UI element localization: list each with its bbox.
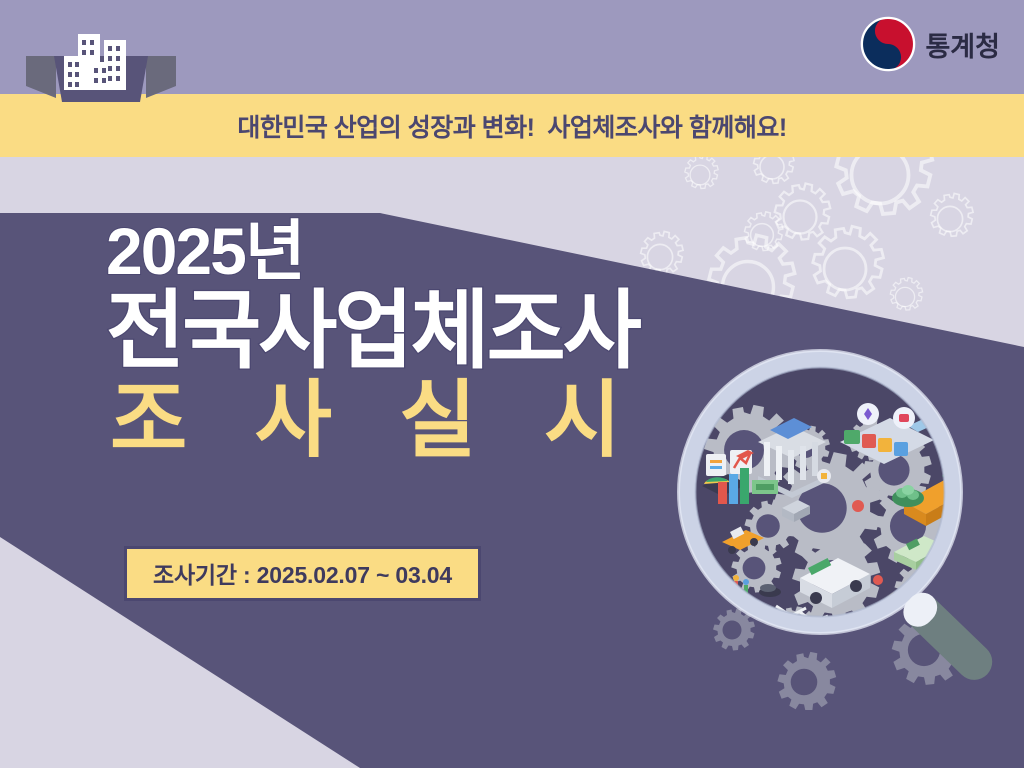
headline-year: 2025년 — [106, 218, 643, 284]
gov-logo: 통계청 — [860, 16, 1000, 72]
survey-period-badge: 조사기간 : 2025.02.07 ~ 03.04 — [124, 546, 481, 601]
construction-machinery-icon — [830, 632, 896, 675]
headline-subtitle: 조 사 실 시 — [110, 378, 643, 462]
poster-canvas: 대한민국 산업의 성장과 변화! 사업체조사와 함께해요! — [0, 0, 1024, 768]
buildings-ribbon-icon — [26, 26, 176, 102]
magnifying-glass-illustration — [672, 330, 1024, 710]
gov-logo-wordmark: 통계청 — [925, 25, 1000, 64]
tagline-text: 대한민국 산업의 성장과 변화! 사업체조사와 함께해요! — [0, 94, 1024, 157]
headline-title: 전국사업체조사 — [106, 288, 643, 374]
taegeuk-symbol-icon — [860, 16, 916, 72]
headline-block: 2025년 전국사업체조사 조 사 실 시 — [106, 218, 643, 462]
